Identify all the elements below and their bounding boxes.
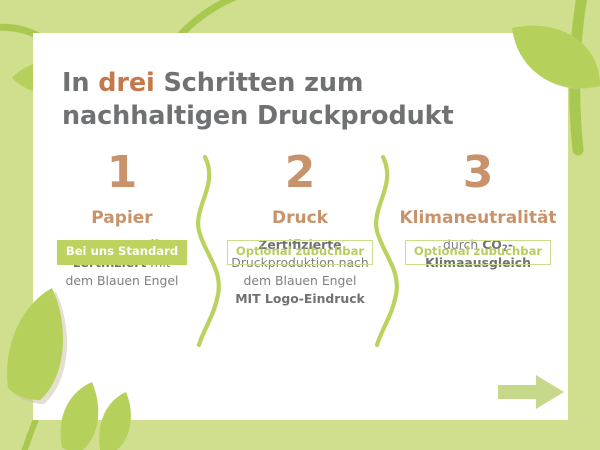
step-number: 1 xyxy=(33,151,211,199)
badge-cell-1: Bei uns Standard xyxy=(33,240,211,265)
step-column-1: 1 Papier 100 % Recycling, zertifiziert m… xyxy=(33,151,211,308)
arrow-right-icon[interactable] xyxy=(496,373,568,411)
step-column-3: 3 Klimaneutralität durch CO2- Klimaausgl… xyxy=(389,151,567,308)
heading-line1-pre: In xyxy=(62,68,98,98)
status-badge-optional[interactable]: Optional zubuchbar xyxy=(227,240,373,265)
step-desc-line3: dem Blauen Engel xyxy=(244,273,357,288)
step-title: Papier xyxy=(33,209,211,228)
step-desc-line4: MIT Logo-Eindruck xyxy=(235,291,365,306)
heading-line2: nachhaltigen Druckprodukt xyxy=(62,101,454,131)
steps-row: 1 Papier 100 % Recycling, zertifiziert m… xyxy=(33,151,568,308)
page-title: In drei Schritten zum nachhaltigen Druck… xyxy=(62,67,532,133)
status-badge-standard[interactable]: Bei uns Standard xyxy=(57,240,187,265)
step-number: 3 xyxy=(389,151,567,199)
badges-row: Bei uns Standard Optional zubuchbar Opti… xyxy=(33,240,568,265)
vine-stem-icon xyxy=(575,0,583,150)
badge-cell-3: Optional zubuchbar xyxy=(389,240,567,265)
step-column-2: 2 Druck Zertifizierte Druckproduktion na… xyxy=(211,151,389,308)
badge-cell-2: Optional zubuchbar xyxy=(211,240,389,265)
heading-accent-word: drei xyxy=(98,68,154,98)
infographic-canvas: In drei Schritten zum nachhaltigen Druck… xyxy=(0,0,600,450)
step-title: Druck xyxy=(211,209,389,228)
status-badge-optional[interactable]: Optional zubuchbar xyxy=(405,240,551,265)
content-card: In drei Schritten zum nachhaltigen Druck… xyxy=(33,33,568,420)
step-title: Klimaneutralität xyxy=(389,209,567,228)
heading-line1-post: Schritten zum xyxy=(155,68,364,98)
step-number: 2 xyxy=(211,151,389,199)
step-desc-line3: dem Blauen Engel xyxy=(66,273,179,288)
